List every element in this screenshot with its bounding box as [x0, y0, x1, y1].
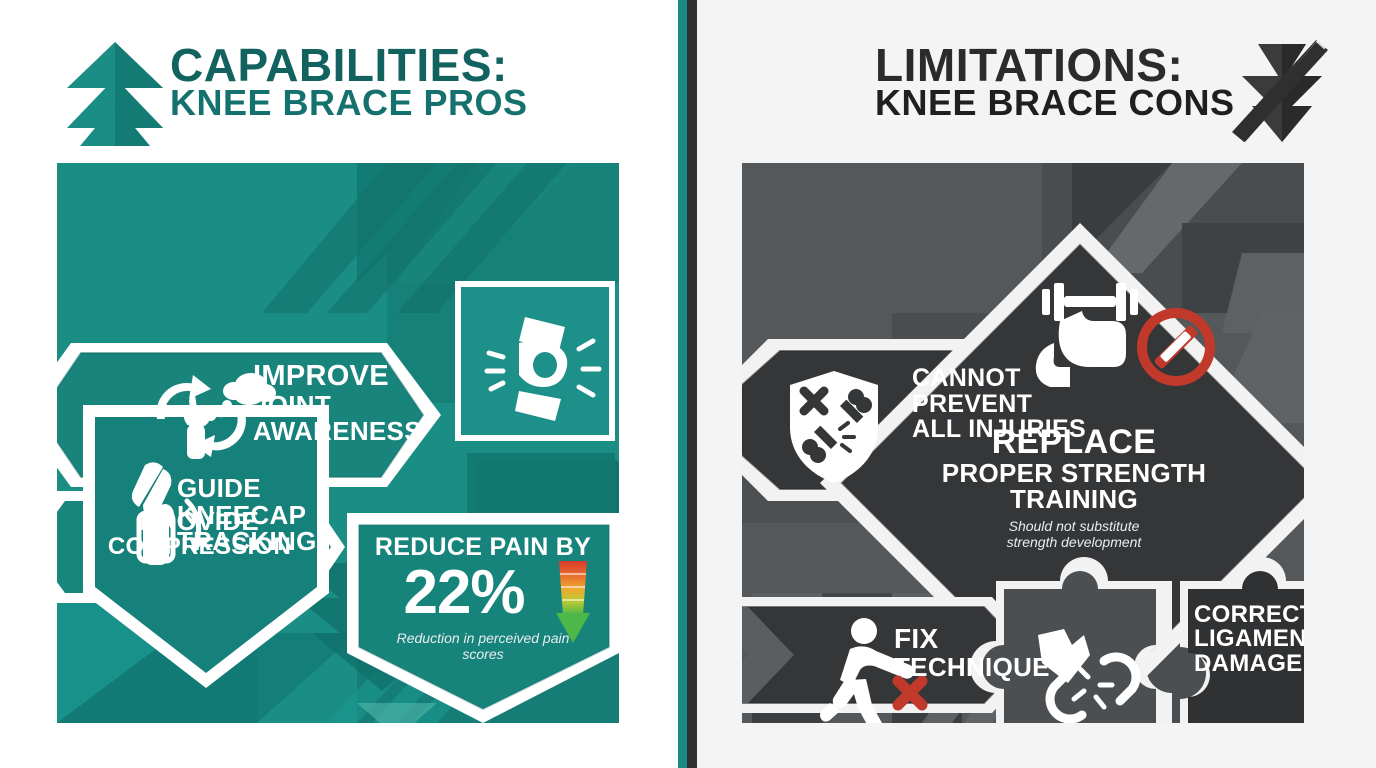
tree-up-icon — [62, 36, 168, 151]
badge-line-2: PREVENT — [912, 392, 1092, 418]
badge-fix-technique-text: FIX TECHNIQUE — [894, 625, 1034, 680]
badge-line-2: PROPER STRENGTH — [924, 460, 1224, 487]
badge-improve-joint-awareness-text: IMPROVE JOINT AWARENESS — [253, 362, 428, 445]
badge-line-2: LIGAMENT — [1194, 627, 1304, 651]
capabilities-title-line2: KNEE BRACE PROS — [170, 86, 528, 119]
badge-replace-strength-training-text: REPLACE PROPER STRENGTH TRAINING Should … — [924, 425, 1224, 550]
stat-caption: Reduction in perceived pain scores — [367, 630, 599, 662]
divider-teal-stripe — [678, 0, 687, 768]
badge-line-1: GUIDE — [177, 475, 317, 502]
badge-line-2: TECHNIQUE — [894, 654, 1034, 681]
badge-line-3: AWARENESS — [253, 418, 428, 445]
header-left: CAPABILITIES: KNEE BRACE PROS — [170, 44, 528, 119]
tree-down-slashed-icon — [1228, 36, 1332, 151]
badge-line-1: REPLACE — [924, 425, 1224, 460]
badge-line-1: IMPROVE — [253, 362, 428, 392]
limitations-title-line2: KNEE BRACE CONS — [875, 86, 1235, 119]
badge-line-3: TRAINING — [924, 486, 1224, 513]
badge-line-3: TRACKING — [177, 528, 317, 555]
limitations-title-line1: LIMITATIONS: — [875, 44, 1235, 86]
badge-guide-kneecap-tracking-text: GUIDE KNEECAP TRACKING — [177, 475, 317, 555]
divider-dark-stripe — [687, 0, 697, 768]
stat-value: 22% — [367, 565, 599, 621]
badge-line-2: KNEECAP — [177, 502, 317, 529]
stat-title: REDUCE PAIN BY — [367, 535, 599, 561]
capabilities-title-line1: CAPABILITIES: — [170, 44, 528, 86]
stat-reduce-pain-text: REDUCE PAIN BY 22% Reduction in perceive… — [367, 535, 599, 662]
infographic-canvas: CAPABILITIES: KNEE BRACE PROS LIMITATION… — [0, 0, 1376, 768]
badge-line-3: DAMAGE — [1194, 652, 1304, 676]
badge-line-2: JOINT — [253, 392, 428, 419]
badge-line-1: FIX — [894, 625, 1034, 654]
badge-line-1: CANNOT — [912, 366, 1092, 392]
capabilities-panel: IMPROVE JOINT AWARENESS PROVIDE COMPRESS… — [57, 163, 619, 723]
badge-line-1: CORRECT — [1194, 603, 1304, 627]
header-right: LIMITATIONS: KNEE BRACE CONS — [875, 44, 1235, 119]
badge-sub-line-1: Should not substitute — [924, 518, 1224, 534]
badge-sub-line-2: strength development — [924, 534, 1224, 550]
badge-correct-ligament-damage-text: CORRECT LIGAMENT DAMAGE — [1194, 603, 1304, 676]
limitations-panel: CANNOT PREVENT ALL INJURIES REPLACE PROP… — [742, 163, 1304, 723]
